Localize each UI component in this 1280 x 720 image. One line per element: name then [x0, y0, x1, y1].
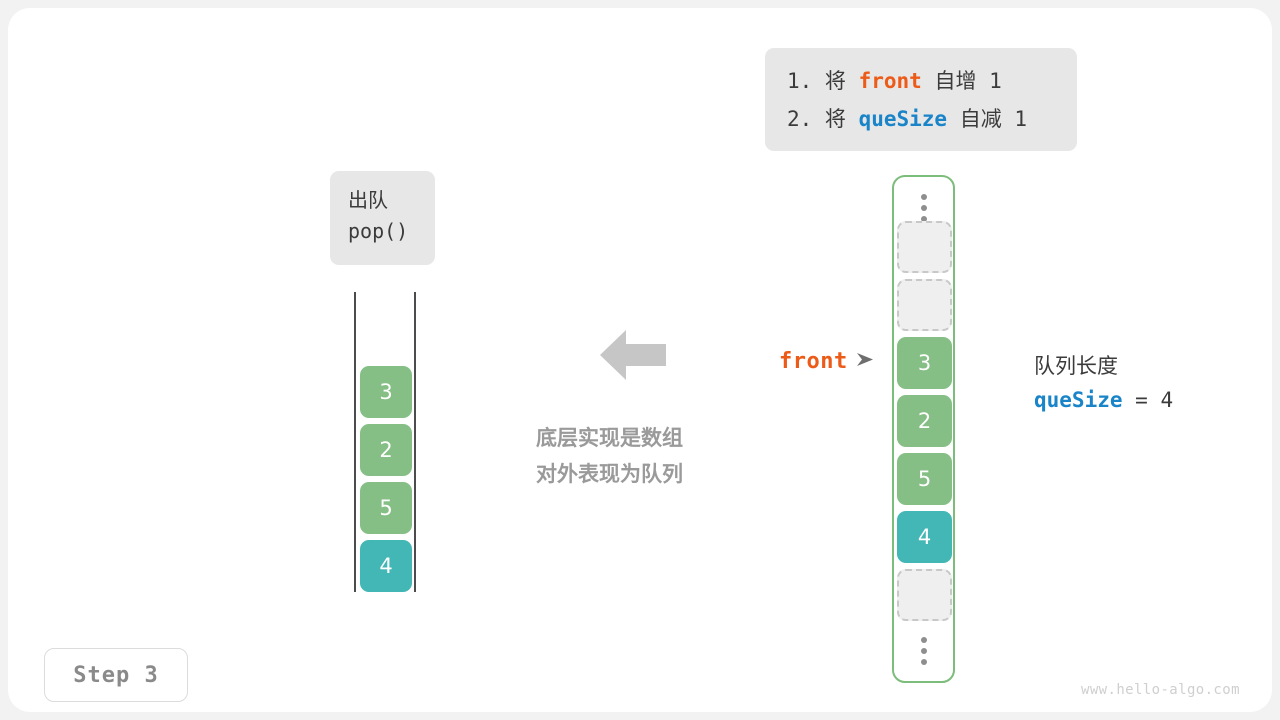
queue-size-equals: = [1123, 388, 1161, 412]
queue-cell: 3 [360, 366, 412, 418]
front-pointer: front [779, 349, 874, 374]
array-container: 3254 [892, 175, 955, 683]
op-line2-suffix: 自减 1 [947, 107, 1027, 131]
op-line2-prefix: 2. 将 [787, 107, 859, 131]
flow-arrow-left-icon [600, 328, 666, 382]
queue-rail-left [354, 292, 356, 592]
queue-cell-stack: 3254 [360, 366, 412, 592]
queue-size-label: 队列长度 [1034, 349, 1173, 383]
operation-note-line-1: 1. 将 front 自增 1 [787, 62, 1055, 100]
vertical-ellipsis-icon-top [894, 194, 953, 222]
queue-rail-right [414, 292, 416, 592]
array-empty-cell [897, 221, 952, 273]
array-cell: 4 [897, 511, 952, 563]
array-empty-cell [897, 279, 952, 331]
queue-abstraction-view: 3254 [348, 292, 422, 592]
pop-code: pop() [348, 216, 435, 247]
operation-note-box: 1. 将 front 自增 1 2. 将 queSize 自减 1 [765, 48, 1077, 151]
operation-note-line-2: 2. 将 queSize 自减 1 [787, 100, 1055, 138]
op-line1-prefix: 1. 将 [787, 69, 859, 93]
op-line1-suffix: 自增 1 [922, 69, 1002, 93]
queue-cell: 2 [360, 424, 412, 476]
vertical-ellipsis-icon-bottom [894, 637, 953, 665]
watermark: www.hello-algo.com [1081, 682, 1240, 698]
array-cell: 3 [897, 337, 952, 389]
queue-size-info: 队列长度 queSize = 4 [1034, 349, 1173, 417]
center-caption: 底层实现是数组 对外表现为队列 [536, 420, 736, 492]
array-cell-stack: 3254 [897, 221, 952, 627]
diagram-card: 1. 将 front 自增 1 2. 将 queSize 自减 1 出队 pop… [8, 8, 1272, 712]
array-empty-cell [897, 569, 952, 621]
queue-cell: 4 [360, 540, 412, 592]
queue-size-variable: queSize [1034, 388, 1123, 412]
op-line1-keyword: front [859, 69, 922, 93]
queue-cell: 5 [360, 482, 412, 534]
step-badge-label: Step 3 [73, 663, 158, 688]
pop-operation-label-box: 出队 pop() [330, 171, 435, 265]
center-caption-line-2: 对外表现为队列 [536, 456, 736, 492]
array-cell: 2 [897, 395, 952, 447]
arrow-right-icon [857, 352, 874, 371]
center-caption-line-1: 底层实现是数组 [536, 420, 736, 456]
array-cell: 5 [897, 453, 952, 505]
diagram-canvas: 1. 将 front 自增 1 2. 将 queSize 自减 1 出队 pop… [0, 0, 1280, 720]
step-badge: Step 3 [44, 648, 188, 702]
queue-size-expression: queSize = 4 [1034, 383, 1173, 417]
op-line2-keyword: queSize [859, 107, 948, 131]
queue-size-value: 4 [1160, 388, 1173, 412]
pop-title: 出队 [348, 185, 435, 216]
front-pointer-label: front [779, 349, 848, 374]
